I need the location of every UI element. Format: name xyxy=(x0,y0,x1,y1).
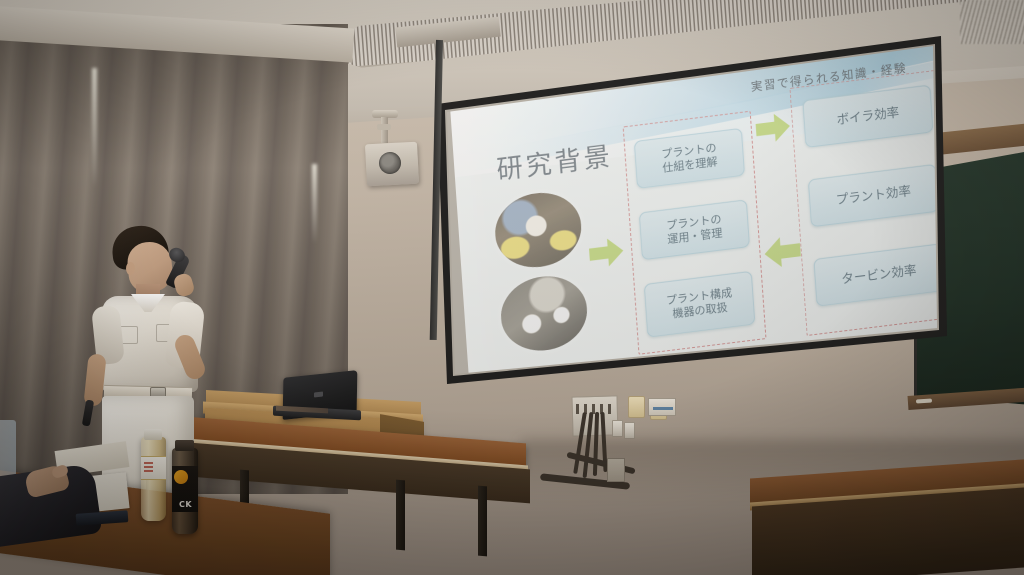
tea-bottle-cap xyxy=(144,429,162,440)
projector-mount-joint xyxy=(377,124,391,130)
wall-outlet-2[interactable] xyxy=(624,422,635,439)
right-box-3-label: タービン効率 xyxy=(841,263,917,286)
desk-leg-3 xyxy=(478,486,487,557)
photo-scene: 研究背景 実習で得られる知識・経験 プラントの 仕組を理解 プラントの 運用・管… xyxy=(0,0,1024,575)
wall-outlet-1[interactable] xyxy=(612,420,623,437)
right-box-1-label: ボイラ効率 xyxy=(836,105,899,127)
right-box-2-label: プラント効率 xyxy=(835,184,911,207)
presenter-hand-right xyxy=(172,272,195,298)
wall-label-plate xyxy=(648,398,676,416)
tea-bottle-label xyxy=(141,456,166,480)
slide-photo-1 xyxy=(493,188,584,272)
coffee-bottle-text: CK xyxy=(173,500,198,509)
arrow-photos-to-left-icon xyxy=(588,237,624,269)
curtain-light-leak-2 xyxy=(312,164,317,244)
coffee-bottle-cap xyxy=(175,440,194,451)
wall-lamp-1 xyxy=(628,396,645,418)
desk-leg-2 xyxy=(396,480,405,551)
curtain-light-leak xyxy=(92,68,97,188)
slide-photo-2 xyxy=(498,271,589,355)
projector-mount-pole xyxy=(381,117,388,143)
laser-pointer xyxy=(82,400,94,427)
ceiling-vent-secondary xyxy=(960,0,1024,44)
presenter-ear xyxy=(126,262,135,275)
arrow-right-to-left-icon xyxy=(764,235,802,269)
